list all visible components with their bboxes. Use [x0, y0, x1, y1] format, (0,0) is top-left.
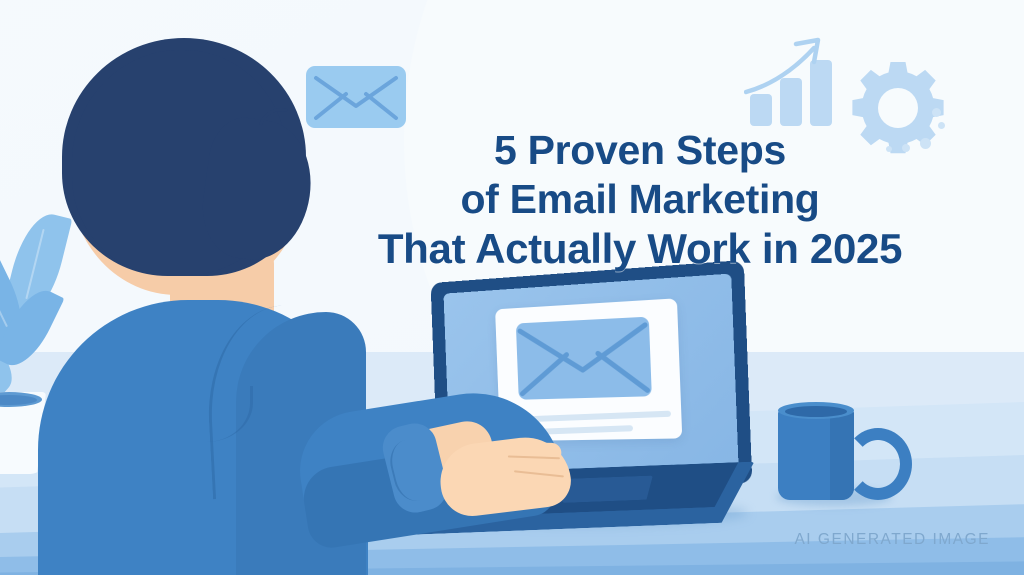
title-line-1: 5 Proven Steps	[300, 126, 980, 175]
growth-arrow-icon	[744, 32, 854, 108]
ai-generated-watermark: AI GENERATED IMAGE	[794, 531, 990, 549]
coffee-mug	[778, 398, 866, 500]
envelope-flap-icon	[306, 66, 406, 128]
envelope-icon	[516, 317, 652, 400]
mug-interior	[785, 406, 847, 417]
laptop-trackpad	[561, 475, 654, 503]
gear-dot	[932, 108, 941, 117]
mug-body-shading	[830, 408, 854, 500]
title-line-2: of Email Marketing	[300, 175, 980, 224]
page-title: 5 Proven Steps of Email Marketing That A…	[300, 126, 980, 273]
envelope-icon	[306, 66, 406, 128]
mug-handle	[844, 428, 912, 500]
title-line-3: That Actually Work in 2025	[300, 224, 980, 273]
illustration-banner: 5 Proven Steps of Email Marketing That A…	[0, 0, 1024, 575]
bar-chart-growth-icon	[744, 36, 854, 126]
